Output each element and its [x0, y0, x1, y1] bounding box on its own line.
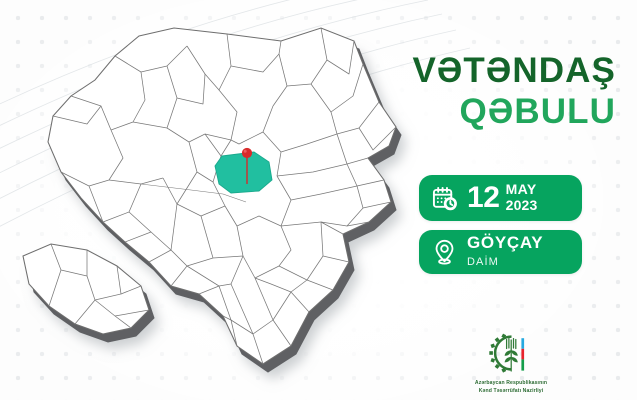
- title-line-1: VƏTƏNDAŞ: [388, 52, 616, 89]
- date-year: 2023: [506, 197, 538, 213]
- location-text-group: GÖYÇAY DAİM: [467, 234, 543, 269]
- logo-caption-line-1: Azərbaycan Respublikasının: [475, 380, 547, 386]
- date-badge[interactable]: 12 MAY 2023: [419, 175, 582, 221]
- date-month-year: MAY 2023: [506, 182, 538, 215]
- logo-caption: Azərbaycan Respublikasının Kənd Təsərrüf…: [426, 379, 596, 396]
- map-svg: [0, 2, 426, 400]
- highlighted-district-goycay[interactable]: [215, 152, 272, 193]
- title-line-2: QƏBULU: [388, 92, 616, 131]
- date-text-group: 12 MAY 2023: [467, 182, 538, 215]
- flag-tricolor-bar: [521, 338, 524, 370]
- info-badges: 12 MAY 2023 GÖYÇAY: [419, 175, 582, 274]
- map-exclave-nakhchivan: [23, 244, 149, 334]
- logo-emblem-svg: [488, 332, 534, 376]
- date-day: 12: [467, 183, 500, 213]
- calendar-clock-icon: [431, 185, 458, 212]
- wheat-gear-emblem: [426, 332, 596, 376]
- logo-caption-line-2: Kənd Təsərrüfatı Nazirliyi: [479, 388, 544, 394]
- right-content-panel: VƏTƏNDAŞ QƏBULU: [388, 0, 637, 400]
- page-title: VƏTƏNDAŞ QƏBULU: [388, 52, 637, 131]
- ministry-logo[interactable]: Azərbaycan Respublikasının Kənd Təsərrüf…: [426, 332, 596, 396]
- poster-canvas: VƏTƏNDAŞ QƏBULU: [0, 0, 637, 400]
- azerbaijan-map[interactable]: [0, 2, 426, 400]
- location-subtitle: DAİM: [467, 256, 499, 268]
- map-pin-icon: [431, 238, 458, 266]
- date-month: MAY: [506, 181, 537, 197]
- location-badge[interactable]: GÖYÇAY DAİM: [419, 230, 582, 274]
- location-name: GÖYÇAY: [467, 233, 543, 252]
